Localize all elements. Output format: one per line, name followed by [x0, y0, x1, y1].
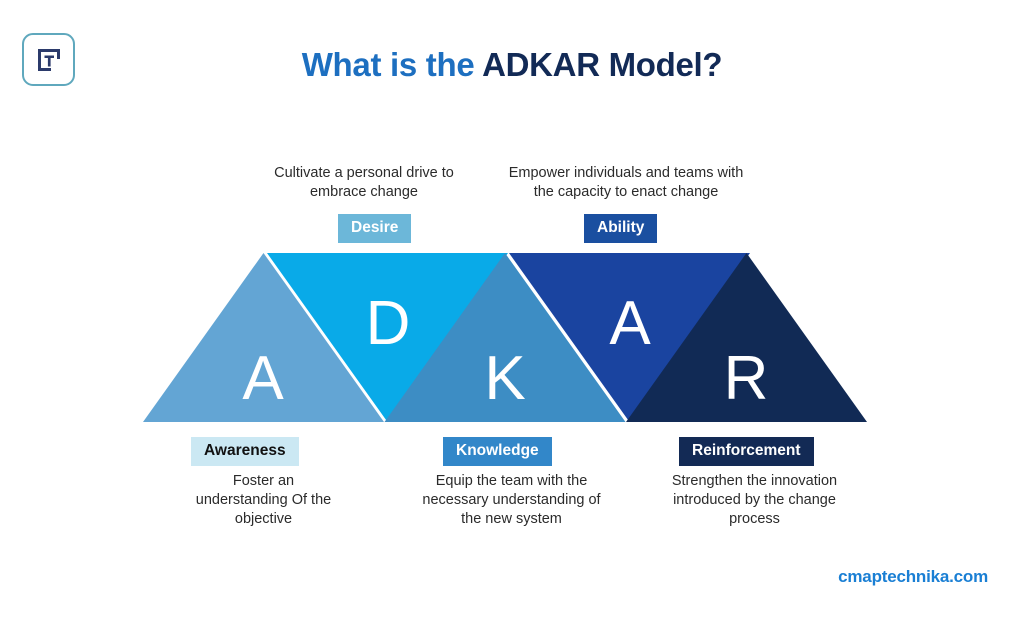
- step-description-reinforcement: Strengthen the innovation introduced by …: [634, 472, 875, 529]
- step-badge-knowledge[interactable]: Knowledge: [443, 437, 552, 466]
- title-light-part: What is the: [302, 46, 482, 83]
- triangle-band: A D K A R: [143, 253, 867, 423]
- adkar-diagram: Cultivate a personal drive to embrace ch…: [143, 160, 867, 540]
- page-title: What is the ADKAR Model?: [0, 46, 1024, 84]
- step-badge-reinforcement[interactable]: Reinforcement: [679, 437, 814, 466]
- step-description-ability: Empower individuals and teams with the c…: [481, 164, 771, 202]
- step-badge-desire[interactable]: Desire: [338, 214, 411, 243]
- step-badge-ability[interactable]: Ability: [584, 214, 657, 243]
- infographic-canvas: What is the ADKAR Model? Cultivate a per…: [0, 0, 1024, 621]
- title-dark-part: ADKAR Model?: [482, 46, 722, 83]
- footer-website-link[interactable]: cmaptechnika.com: [838, 567, 988, 587]
- step-description-desire: Cultivate a personal drive to embrace ch…: [239, 164, 489, 202]
- step-description-awareness: Foster an understanding Of the objective: [143, 472, 384, 529]
- step-badge-awareness[interactable]: Awareness: [191, 437, 299, 466]
- step-description-knowledge: Equip the team with the necessary unders…: [391, 472, 632, 529]
